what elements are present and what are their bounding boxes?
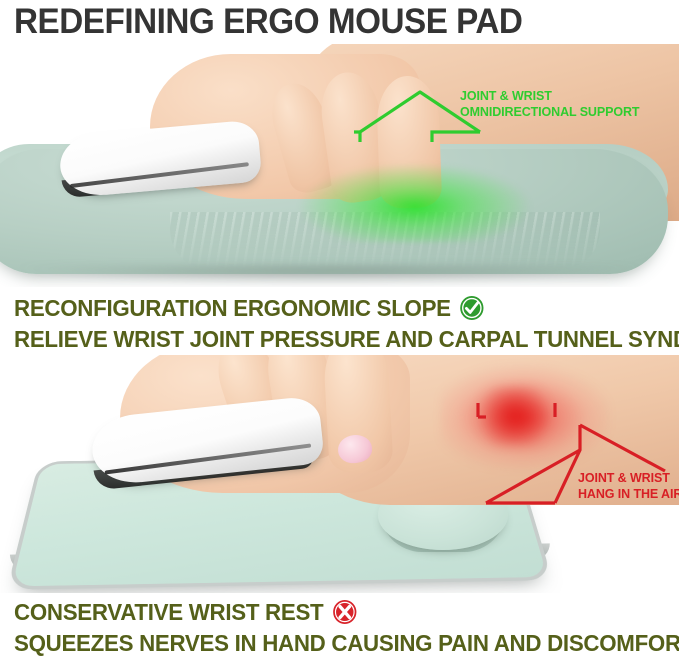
top-callout-line1: JOINT & WRIST [460, 88, 639, 104]
top-callout-line2: OMNIDIRECTIONAL SUPPORT [460, 104, 639, 120]
benefit-claim-line-2: RELIEVE WRIST JOINT PRESSURE AND CARPAL … [14, 325, 679, 353]
drawback-claim-line-1: CONSERVATIVE WRIST REST [14, 598, 679, 626]
benefit-claim-block: RECONFIGURATION ERGONOMIC SLOPE RELIEVE … [14, 294, 679, 353]
drawback-claim-block: CONSERVATIVE WRIST REST SQUEEZES NERVES … [14, 598, 679, 657]
bottom-callout-line1: JOINT & WRIST [578, 470, 679, 486]
ergo-pad-shadow [10, 266, 650, 284]
bottom-product-photo: JOINT & WRIST HANG IN THE AIR [0, 355, 679, 593]
bottom-callout-line2: HANG IN THE AIR [578, 486, 679, 502]
x-circle-icon [332, 599, 357, 625]
drawback-claim-text-1: CONSERVATIVE WRIST REST [14, 599, 323, 626]
benefit-claim-text-2: RELIEVE WRIST JOINT PRESSURE AND CARPAL … [14, 326, 679, 353]
benefit-claim-line-1: RECONFIGURATION ERGONOMIC SLOPE [14, 294, 679, 322]
page-title: REDEFINING ERGO MOUSE PAD [14, 2, 632, 42]
support-glow [300, 164, 530, 242]
benefit-claim-text-1: RECONFIGURATION ERGONOMIC SLOPE [14, 295, 451, 322]
top-product-photo: JOINT & WRIST OMNIDIRECTIONAL SUPPORT [0, 44, 679, 287]
bottom-callout-label: JOINT & WRIST HANG IN THE AIR [578, 470, 679, 502]
drawback-claim-line-2: SQUEEZES NERVES IN HAND CAUSING PAIN AND… [14, 629, 679, 657]
check-circle-icon [460, 295, 485, 321]
drawback-claim-text-2: SQUEEZES NERVES IN HAND CAUSING PAIN AND… [14, 630, 679, 657]
top-callout-label: JOINT & WRIST OMNIDIRECTIONAL SUPPORT [460, 88, 639, 120]
